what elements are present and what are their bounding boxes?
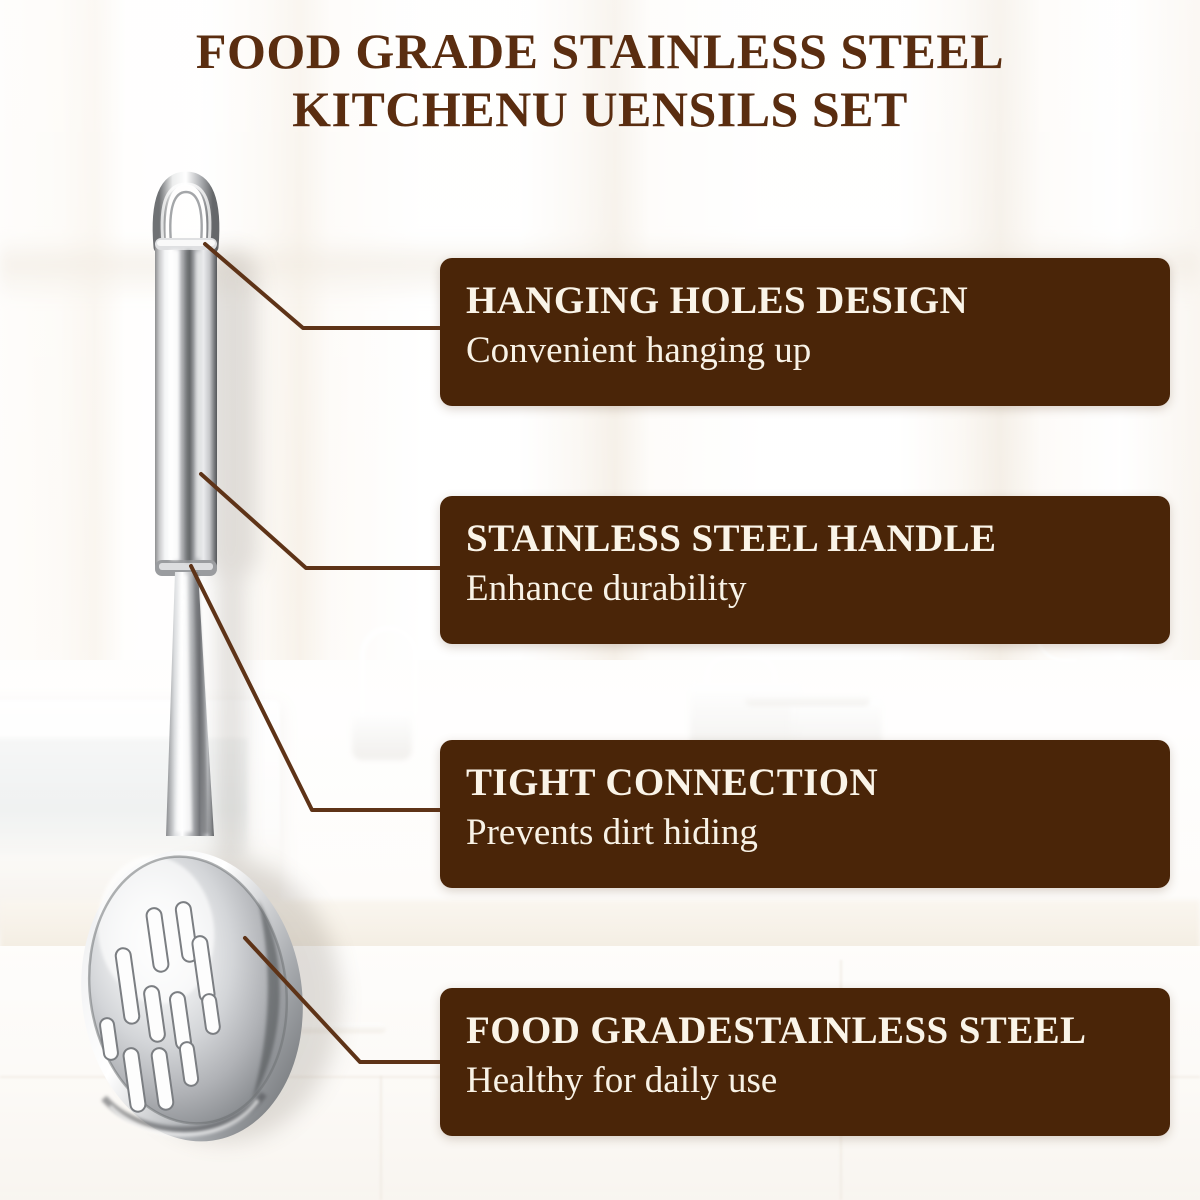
callout-heading: HANGING HOLES DESIGN [466,278,1170,324]
callout-heading: FOOD GRADESTAINLESS STEEL [466,1008,1170,1054]
leader-line-1 [200,238,450,338]
callout-food-grade-stainless-steel[interactable]: FOOD GRADESTAINLESS STEEL Healthy for da… [440,988,1170,1136]
leader-line-4 [240,932,452,1070]
callout-subtext: Convenient hanging up [466,328,1170,374]
callout-subtext: Healthy for daily use [466,1058,1170,1104]
callout-subtext: Prevents dirt hiding [466,810,1170,856]
leader-line-3 [186,560,454,820]
callout-heading: STAINLESS STEEL HANDLE [466,516,1170,562]
callout-hanging-holes-design[interactable]: HANGING HOLES DESIGN Convenient hanging … [440,258,1170,406]
callout-stainless-steel-handle[interactable]: STAINLESS STEEL HANDLE Enhance durabilit… [440,496,1170,644]
callout-subtext: Enhance durability [466,566,1170,612]
callout-heading: TIGHT CONNECTION [466,760,1170,806]
callout-tight-connection[interactable]: TIGHT CONNECTION Prevents dirt hiding [440,740,1170,888]
